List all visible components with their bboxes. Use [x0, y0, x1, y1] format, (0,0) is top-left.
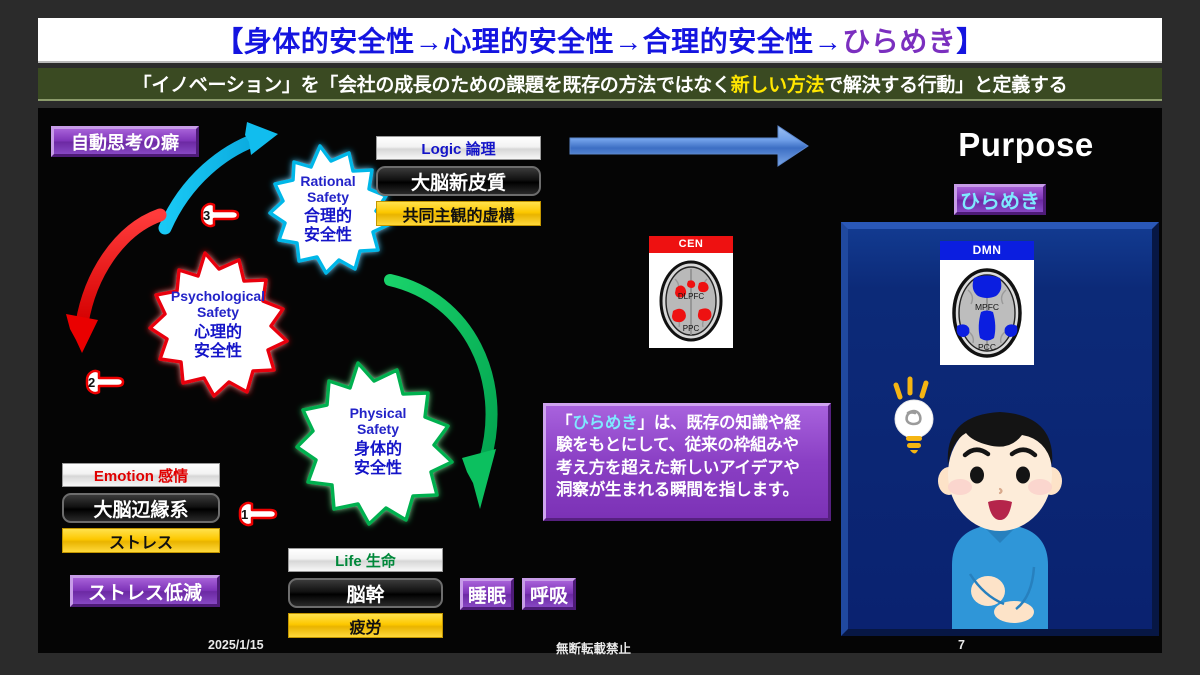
badge-stress-reduction-label: ストレス低減	[88, 578, 202, 605]
brain-card-cen: CEN DLPFC PPC	[649, 236, 733, 348]
slide-title-bar: 【身体的安全性→心理的安全性→合理的安全性→ひらめき】	[38, 18, 1162, 63]
label-emotion-black-text: 大脳辺縁系	[93, 495, 188, 522]
label-life-black: 脳幹	[288, 578, 443, 608]
gear-rational-en-1: Rational	[300, 174, 355, 190]
pointer-hand-3-icon: 3	[198, 199, 238, 229]
badge-hirameki: ひらめき	[954, 184, 1046, 215]
brain-dmn-region-2: PCC	[978, 342, 996, 352]
brain-scan-cen-image: DLPFC PPC	[649, 253, 733, 348]
pointer-hand-1-icon: 1	[236, 498, 276, 528]
title-main-text: 【身体的安全性→心理的安全性→合理的安全性→	[215, 26, 842, 57]
slide-root: 【身体的安全性→心理的安全性→合理的安全性→ひらめき】 「イノベーション」を「会…	[0, 0, 1200, 675]
gear-physical-jp-2: 安全性	[354, 460, 402, 479]
brain-dmn-caption: DMN	[940, 241, 1034, 260]
label-emotion-head: Emotion 感情	[62, 463, 220, 487]
explain-accent: ひらめき	[572, 414, 637, 432]
purpose-title: Purpose	[926, 125, 1126, 165]
subtitle-part-a: 「イノベーション」を「会社の成長のための課題を既存の方法ではなく	[133, 75, 731, 96]
brain-card-dmn: DMN MPFC PCC	[940, 241, 1034, 365]
page-title: 【身体的安全性→心理的安全性→合理的安全性→ひらめき】	[215, 20, 985, 60]
badge-breath-label: 呼吸	[530, 581, 568, 608]
gear-rational-safety-label: Rational Safety 合理的 安全性	[268, 160, 388, 260]
slide-canvas: Rational Safety 合理的 安全性 Psychological Sa…	[38, 108, 1162, 653]
label-logic-black: 大脳新皮質	[376, 166, 541, 196]
explain-quote: 「	[556, 414, 572, 432]
label-logic-yellow-text: 共同主観的虚構	[402, 202, 514, 226]
badge-breath: 呼吸	[522, 578, 576, 610]
explain-rest-1: 」は、既存の知識や経	[638, 414, 801, 432]
brain-cen-caption: CEN	[649, 236, 733, 253]
purpose-title-text: Purpose	[958, 126, 1094, 164]
title-tail-text: 】	[956, 26, 985, 57]
subtitle-part-b: で解決する行動」と定義する	[824, 75, 1067, 96]
purpose-blue-panel: DMN MPFC PCC	[841, 222, 1159, 636]
gear-physical-en-2: Safety	[357, 422, 399, 438]
gear-rational-jp-2: 安全性	[304, 227, 352, 246]
gear-physical-jp-1: 身体的	[354, 441, 402, 460]
badge-stress-reduction: ストレス低減	[70, 575, 220, 607]
label-emotion-yellow-text: ストレス	[109, 529, 173, 553]
label-life-head-text: Life 生命	[335, 550, 396, 571]
title-accent-text: ひらめき	[842, 26, 956, 57]
footer-page-number: 7	[958, 638, 965, 652]
subtitle-highlight: 新しい方法	[731, 75, 825, 96]
gear-psychological-safety-label: Psychological Safety 心理的 安全性	[158, 273, 278, 378]
label-emotion-yellow: ストレス	[62, 528, 220, 553]
label-life-black-text: 脳幹	[346, 580, 384, 607]
subtitle-text: 「イノベーション」を「会社の成長のための課題を既存の方法ではなく新しい方法で解決…	[133, 70, 1068, 97]
footer-notice: 無断転載禁止	[556, 638, 631, 657]
label-logic-black-text: 大脳新皮質	[411, 168, 506, 195]
arrow-blue-right	[570, 126, 808, 166]
marker-label-3: 3	[203, 208, 210, 223]
lightbulb-icon	[895, 379, 933, 454]
explanation-box: 「ひらめき」は、既存の知識や経 験をもとにして、従来の枠組みや 考え方を超えた新…	[543, 403, 831, 521]
brain-scan-dmn-image: MPFC PCC	[940, 260, 1034, 365]
slide-subtitle-bar: 「イノベーション」を「会社の成長のための課題を既存の方法ではなく新しい方法で解決…	[38, 68, 1162, 101]
marker-label-2: 2	[88, 375, 95, 390]
label-logic-head: Logic 論理	[376, 136, 541, 160]
gear-physical-safety-label: Physical Safety 身体的 安全性	[318, 390, 438, 495]
badge-sleep: 睡眠	[460, 578, 514, 610]
slide-footer: 2025/1/15 無断転載禁止 7	[38, 636, 1162, 658]
label-life-head: Life 生命	[288, 548, 443, 572]
brain-dmn-region-1: MPFC	[975, 302, 999, 312]
explanation-line-2: 験をもとにして、従来の枠組みや	[556, 434, 820, 456]
badge-hirameki-label: ひらめき	[960, 185, 1040, 214]
label-emotion-black: 大脳辺縁系	[62, 493, 220, 523]
gear-psych-en-1: Psychological	[171, 289, 265, 305]
brain-cen-region-2: PPC	[683, 324, 700, 333]
footer-date: 2025/1/15	[208, 638, 264, 652]
label-life-yellow: 疲労	[288, 613, 443, 638]
badge-sleep-label: 睡眠	[468, 581, 506, 608]
badge-auto-thought-label: 自動思考の癖	[71, 129, 179, 155]
explanation-line-3: 考え方を超えた新しいアイデアや	[556, 457, 820, 479]
label-emotion-head-text: Emotion 感情	[94, 465, 188, 486]
gear-physical-en-1: Physical	[350, 406, 407, 422]
label-logic-head-text: Logic 論理	[421, 138, 495, 159]
label-logic-yellow: 共同主観的虚構	[376, 201, 541, 226]
label-life-yellow-text: 疲労	[349, 614, 381, 638]
marker-label-1: 1	[241, 507, 248, 522]
gear-psych-jp-2: 安全性	[194, 343, 242, 362]
gear-psych-jp-1: 心理的	[194, 324, 242, 343]
pointer-hand-2-icon: 2	[83, 366, 123, 396]
gear-rational-jp-1: 合理的	[304, 208, 352, 227]
badge-auto-thought: 自動思考の癖	[51, 126, 199, 157]
explanation-line-1: 「ひらめき」は、既存の知識や経	[556, 412, 820, 434]
gear-psych-en-2: Safety	[197, 305, 239, 321]
explanation-line-4: 洞察が生まれる瞬間を指します。	[556, 479, 820, 501]
gear-rational-en-2: Safety	[307, 190, 349, 206]
arrow-red-down	[66, 215, 160, 353]
brain-cen-region-1: DLPFC	[678, 292, 704, 301]
person-illustration	[848, 369, 1152, 629]
